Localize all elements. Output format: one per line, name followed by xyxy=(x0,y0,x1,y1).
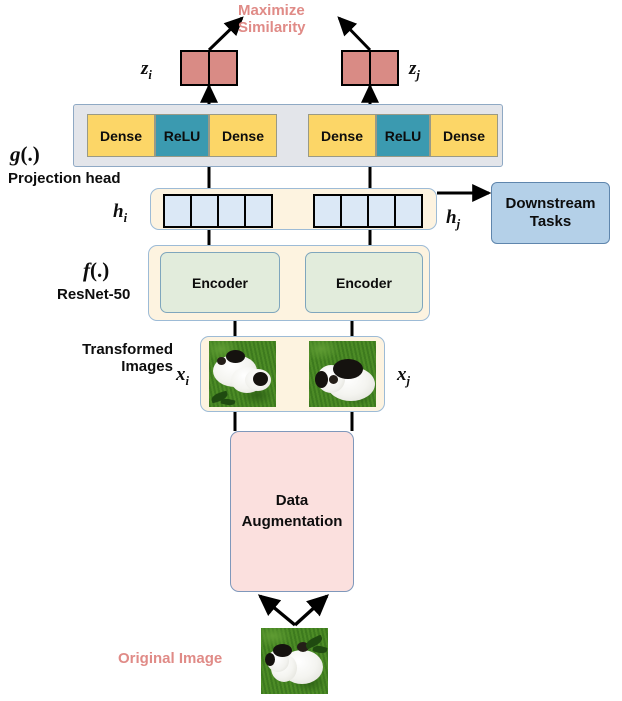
z-left-cell-1 xyxy=(182,52,210,84)
encoder-function-symbol: f(.) xyxy=(83,258,109,283)
data-augmentation-box[interactable]: Data Augmentation xyxy=(230,431,354,592)
objective-label: Maximize Similarity xyxy=(238,2,358,37)
encoder-caption: ResNet-50 xyxy=(57,286,130,303)
projection-right-relu[interactable]: ReLU xyxy=(376,114,430,157)
projection-head-function-symbol: g(.) xyxy=(10,142,40,167)
h-left-cell xyxy=(245,194,273,228)
x-left-subscript: i xyxy=(186,374,189,388)
downstream-tasks-box[interactable]: Downstream Tasks xyxy=(491,182,610,244)
z-right-cell-2 xyxy=(371,52,397,84)
h-left-cell xyxy=(191,194,218,228)
h-right-cell xyxy=(368,194,395,228)
projection-left-dense-2[interactable]: Dense xyxy=(209,114,277,157)
projection-right-dense-1[interactable]: Dense xyxy=(308,114,376,157)
h-left-cell xyxy=(218,194,245,228)
transformed-images-caption: Transformed Images xyxy=(48,341,173,376)
h-left-cell xyxy=(163,194,191,228)
projection-head-caption: Projection head xyxy=(8,170,121,187)
z-left-cell-2 xyxy=(210,52,236,84)
arrow-original-to-aug-right xyxy=(295,596,327,625)
h-right-cell xyxy=(313,194,341,228)
encoder-left[interactable]: Encoder xyxy=(160,252,280,313)
original-image xyxy=(261,628,328,694)
z-right-cell-1 xyxy=(343,52,371,84)
h-left-label: hi xyxy=(113,201,127,226)
z-right-block xyxy=(341,50,399,86)
original-image-caption: Original Image xyxy=(118,650,222,667)
projection-left-relu[interactable]: ReLU xyxy=(155,114,209,157)
h-left-subscript: i xyxy=(124,211,127,225)
x-right-subscript: j xyxy=(407,374,410,388)
transformed-image-left xyxy=(209,341,276,407)
z-left-subscript: i xyxy=(148,68,151,82)
encoder-right[interactable]: Encoder xyxy=(305,252,423,313)
z-right-label: zj xyxy=(409,58,420,83)
projection-left-dense-1[interactable]: Dense xyxy=(87,114,155,157)
h-right-label: hj xyxy=(446,207,460,232)
diagram-canvas: Maximize Similarity zi zj Dense ReLU Den… xyxy=(0,0,622,701)
x-right-label: xj xyxy=(397,364,410,389)
z-right-subscript: j xyxy=(416,68,419,82)
z-left-block xyxy=(180,50,238,86)
transformed-image-right xyxy=(309,341,376,407)
arrow-original-to-aug-left xyxy=(260,596,295,625)
h-right-vector xyxy=(313,194,423,228)
z-left-label: zi xyxy=(141,58,152,83)
projection-right-dense-2[interactable]: Dense xyxy=(430,114,498,157)
h-right-cell xyxy=(395,194,423,228)
x-left-label: xi xyxy=(176,364,189,389)
h-right-cell xyxy=(341,194,368,228)
h-left-vector xyxy=(163,194,273,228)
h-right-subscript: j xyxy=(457,217,460,231)
